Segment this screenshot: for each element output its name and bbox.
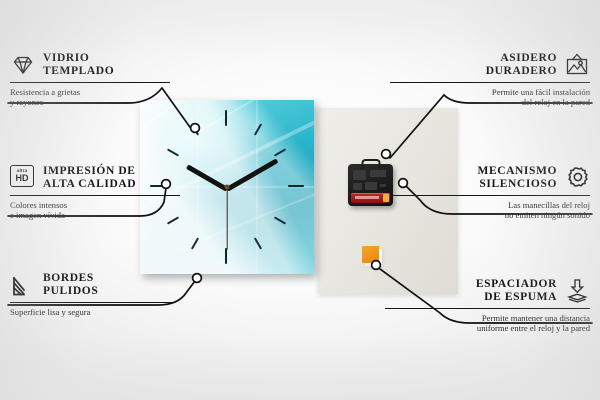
feature-vidrio-templado: VIDRIO TEMPLADO Resistencia a grietas y …: [10, 52, 170, 108]
feature-desc-line2: uniforme entre el reloj y la pared: [385, 323, 590, 333]
feature-divider: [385, 308, 590, 309]
feature-espaciador-de-espuma: ESPACIADOR DE ESPUMA Permite mantener un…: [385, 278, 590, 334]
feature-bordes-pulidos: BORDES PULIDOS Superficie lisa y segura: [10, 272, 175, 317]
feature-impresion-alta-calidad: ultra HD IMPRESIÓN DE ALTA CALIDAD Color…: [10, 165, 180, 221]
feature-divider: [10, 195, 180, 196]
diamond-icon: [10, 52, 36, 78]
infographic-canvas: VIDRIO TEMPLADO Resistencia a grietas y …: [0, 0, 600, 400]
feature-title-line1: BORDES: [43, 272, 98, 285]
feature-title-line1: IMPRESIÓN DE: [43, 165, 136, 178]
foam-spacer: [362, 246, 379, 263]
feature-title-line2: DURADERO: [486, 65, 557, 78]
feature-divider: [10, 302, 175, 303]
feature-desc-line1: Colores intensos: [10, 200, 180, 210]
battery: [351, 193, 390, 203]
feature-desc-line1: Permite una fácil instalación: [390, 87, 590, 97]
feature-desc-line2: no emiten ningún sonido: [390, 210, 590, 220]
feature-desc-line1: Permite mantener una distancia: [385, 313, 590, 323]
feature-desc-line2: y rayones: [10, 97, 170, 107]
gear-icon: [564, 165, 590, 191]
feature-desc-line1: Las manecillas del reloj: [390, 200, 590, 210]
feature-divider: [390, 195, 590, 196]
feature-title-line2: PULIDOS: [43, 285, 98, 298]
ultra-hd-icon: ultra HD: [10, 165, 36, 191]
feature-mecanismo-silencioso: MECANISMO SILENCIOSO Las manecillas del …: [390, 165, 590, 221]
ultra-hd-large-text: HD: [16, 174, 29, 183]
polished-edges-icon: [10, 272, 36, 298]
feature-desc-line1: Resistencia a grietas: [10, 87, 170, 97]
feature-divider: [390, 82, 590, 83]
feature-title-line1: ESPACIADOR: [476, 278, 557, 291]
feature-desc-line1: Superficie lisa y segura: [10, 307, 175, 317]
feature-title-line1: MECANISMO: [477, 165, 557, 178]
clock-mechanism: [348, 164, 393, 206]
clock-center-pin: [225, 185, 230, 190]
feature-title-line2: TEMPLADO: [43, 65, 114, 78]
feature-asidero-duradero: ASIDERO DURADERO Permite una fácil insta…: [390, 52, 590, 108]
feature-divider: [10, 82, 170, 83]
feature-title-line2: SILENCIOSO: [477, 178, 557, 191]
feature-title-line1: VIDRIO: [43, 52, 114, 65]
feature-desc-line2: del reloj en la pared: [390, 97, 590, 107]
feature-title-line2: ALTA CALIDAD: [43, 178, 136, 191]
foam-spacer-icon: [564, 278, 590, 304]
feature-title-line2: DE ESPUMA: [476, 291, 557, 304]
wall-hanger-icon: [564, 52, 590, 78]
clock-second-hand: [226, 188, 227, 250]
feature-title-line1: ASIDERO: [486, 52, 557, 65]
mechanism-hanger-icon: [361, 159, 380, 170]
feature-desc-line2: e imagen vívida: [10, 210, 180, 220]
